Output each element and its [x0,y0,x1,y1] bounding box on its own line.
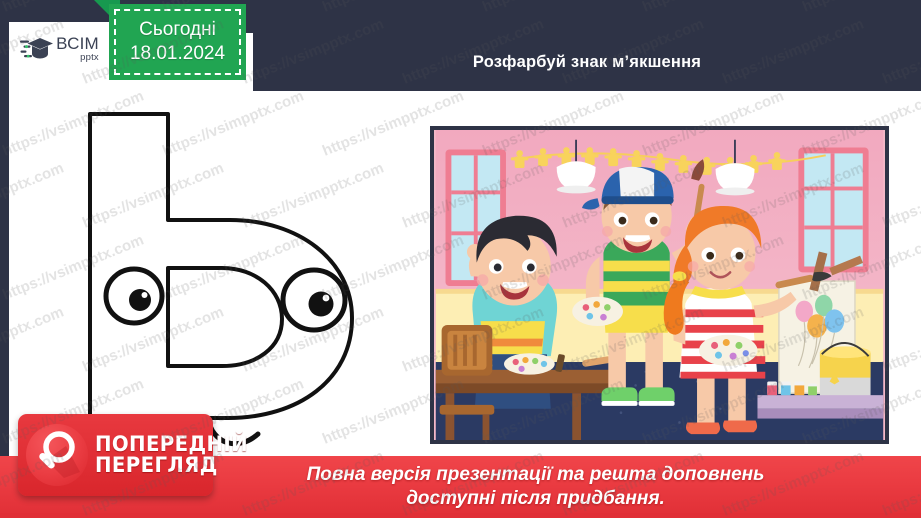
watermark-text: https://vsimpptx.com [0,303,66,375]
preview-badge-line1: ПОПЕРЕДНІЙ [95,434,248,455]
watermark-text: https://vsimpptx.com [0,159,66,231]
left-edge-strip [0,0,9,462]
slide-canvas: ВСІМ pptx Сьогодні 18.01.2024 Розфарбуй … [0,0,921,518]
purchase-banner-line1: Повна версія презентації та решта доповн… [307,463,765,487]
date-badge-value: 18.01.2024 [130,44,225,64]
logo-wordmark: ВСІМ [56,35,99,52]
graduation-cap-icon [20,35,53,63]
slide-title-bar: Розфарбуй знак м’якшення [253,33,921,91]
logo-subtext: pptx [56,53,99,63]
purchase-banner-text: Повна версія презентації та решта доповн… [307,463,765,511]
magnifier-icon [26,424,88,486]
preview-badge[interactable]: ПОПЕРЕДНІЙ ПЕРЕГЛЯД [18,414,213,496]
page-title: Розфарбуй знак м’якшення [473,53,701,72]
preview-badge-line2: ПЕРЕГЛЯД [95,455,248,476]
illustration-children-painting [430,126,889,444]
eye-right [283,270,345,330]
eye-left [106,269,162,323]
purchase-banner-line2: доступні після придбання. [307,487,765,511]
date-badge: Сьогодні 18.01.2024 [94,0,246,84]
soft-sign-outline[interactable] [60,100,410,460]
date-badge-label: Сьогодні [139,20,216,40]
